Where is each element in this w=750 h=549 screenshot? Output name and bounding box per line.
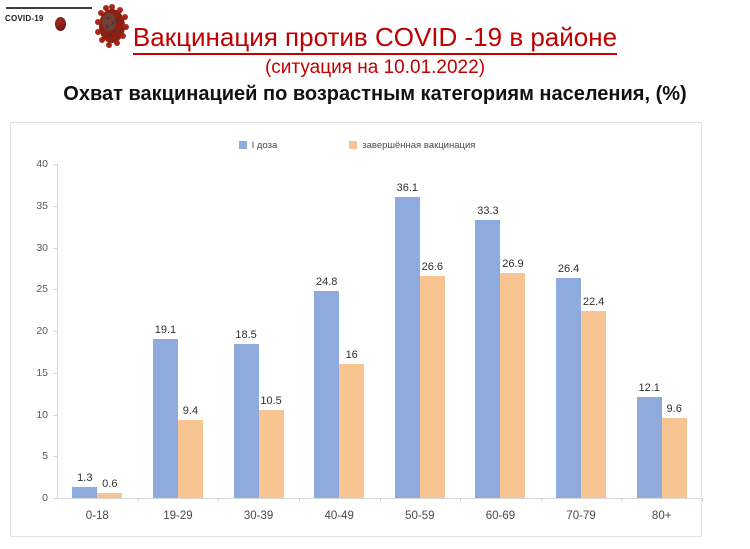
bar-value-label: 26.9 — [502, 258, 523, 270]
bar-dose1[interactable]: 24.8 — [314, 291, 339, 498]
bar-completed[interactable]: 9.6 — [662, 418, 687, 498]
x-axis-category-label: 60-69 — [486, 510, 515, 522]
bar-value-label: 16 — [346, 349, 358, 361]
bar-dose1[interactable]: 36.1 — [395, 197, 420, 498]
bar-group: 12.19.680+ — [621, 164, 702, 498]
bar-value-label: 0.6 — [102, 478, 117, 490]
bar-dose1[interactable]: 33.3 — [475, 220, 500, 498]
legend-label: завершённая вакцинация — [362, 140, 475, 151]
x-axis-category-label: 40-49 — [324, 510, 353, 522]
bar-dose1[interactable]: 19.1 — [153, 339, 178, 498]
bar-group: 1.30.60-18 — [57, 164, 138, 498]
x-axis-category-label: 19-29 — [163, 510, 192, 522]
legend-swatch-icon — [239, 141, 247, 149]
x-axis-category-label: 0-18 — [86, 510, 109, 522]
x-tick-mark — [621, 498, 622, 502]
x-tick-mark — [460, 498, 461, 502]
page-subtitle: (ситуация на 10.01.2022) — [0, 57, 750, 79]
bar-value-label: 12.1 — [638, 382, 659, 394]
bar-value-label: 26.6 — [422, 261, 443, 273]
bar-value-label: 22.4 — [583, 296, 604, 308]
x-tick-mark — [218, 498, 219, 502]
chart-plot-area: 0510152025303540 1.30.60-1819.19.419-291… — [57, 164, 702, 498]
bar-value-label: 19.1 — [155, 324, 176, 336]
x-tick-mark — [138, 498, 139, 502]
bar-completed[interactable]: 10.5 — [259, 410, 284, 498]
page-title-text: Вакцинация против COVID -19 в районе — [133, 22, 617, 55]
bar-group: 36.126.650-59 — [380, 164, 461, 498]
x-tick-mark — [702, 498, 703, 502]
bar-value-label: 1.3 — [77, 472, 92, 484]
chart-legend: I дозазавершённая вакцинация — [11, 140, 703, 151]
bar-group: 33.326.960-69 — [460, 164, 541, 498]
bar-completed[interactable]: 26.6 — [420, 276, 445, 498]
x-tick-mark — [541, 498, 542, 502]
bar-value-label: 18.5 — [235, 329, 256, 341]
x-tick-mark — [299, 498, 300, 502]
x-tick-mark — [380, 498, 381, 502]
bar-dose1[interactable]: 12.1 — [637, 397, 662, 498]
bar-group: 18.510.530-39 — [218, 164, 299, 498]
bar-completed[interactable]: 16 — [339, 364, 364, 498]
chart-heading: Охват вакцинацией по возрастным категори… — [0, 83, 750, 106]
x-axis-category-label: 70-79 — [566, 510, 595, 522]
x-axis-category-label: 50-59 — [405, 510, 434, 522]
bar-completed[interactable]: 26.9 — [500, 273, 525, 498]
bar-dose1[interactable]: 1.3 — [72, 487, 97, 498]
bar-completed[interactable]: 22.4 — [581, 311, 606, 498]
covid-rule-line — [6, 7, 92, 9]
bar-group: 19.19.419-29 — [138, 164, 219, 498]
y-tick-mark — [53, 498, 57, 499]
bar-value-label: 10.5 — [260, 395, 281, 407]
legend-item-1[interactable]: завершённая вакцинация — [349, 140, 475, 151]
legend-label: I доза — [252, 140, 278, 151]
bar-value-label: 33.3 — [477, 205, 498, 217]
x-axis-category-label: 30-39 — [244, 510, 273, 522]
bar-value-label: 9.4 — [183, 405, 198, 417]
chart-container: I дозазавершённая вакцинация 05101520253… — [10, 122, 702, 537]
bar-completed[interactable]: 0.6 — [97, 493, 122, 498]
bar-completed[interactable]: 9.4 — [178, 420, 203, 498]
bar-value-label: 9.6 — [667, 403, 682, 415]
bar-dose1[interactable]: 18.5 — [234, 344, 259, 498]
page-title: Вакцинация против COVID -19 в районе — [0, 22, 750, 53]
bar-value-label: 36.1 — [397, 182, 418, 194]
bar-group: 26.422.470-79 — [541, 164, 622, 498]
bar-dose1[interactable]: 26.4 — [556, 278, 581, 498]
legend-swatch-icon — [349, 141, 357, 149]
legend-item-0[interactable]: I доза — [239, 140, 278, 151]
bar-value-label: 24.8 — [316, 276, 337, 288]
bar-value-label: 26.4 — [558, 263, 579, 275]
slide-canvas: COVID-19 — [0, 0, 750, 549]
x-axis-category-label: 80+ — [652, 510, 672, 522]
bar-group: 24.81640-49 — [299, 164, 380, 498]
